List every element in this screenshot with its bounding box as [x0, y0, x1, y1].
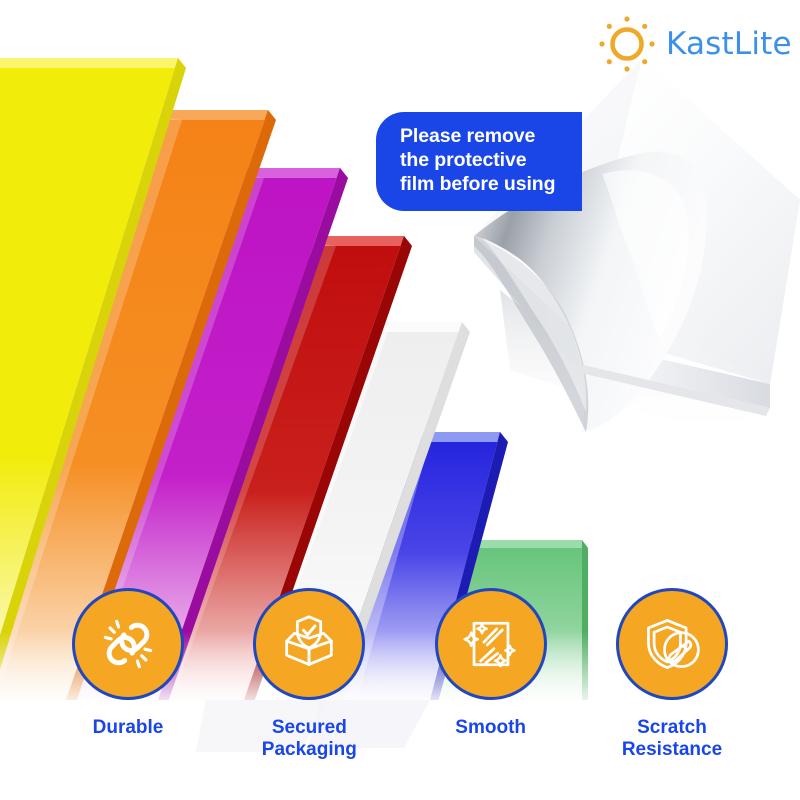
feature-secured-packaging[interactable]: Secured Packaging [221, 588, 397, 761]
product-marketing-image: KastLite Please remove the protective fi… [0, 0, 800, 800]
secure-box-icon [275, 610, 343, 678]
feature-circle-scratch-resistance [616, 588, 728, 700]
glass-sparkle-icon [458, 611, 524, 677]
feature-smooth[interactable]: Smooth [403, 588, 579, 761]
feature-label-durable: Durable [93, 717, 164, 739]
feature-circle-secured-packaging [253, 588, 365, 700]
brand-logo: KastLite [596, 14, 792, 74]
feature-label-scratch-resistance: Scratch Resistance [622, 717, 722, 761]
feature-badge-row: Durable Secured Packaging [40, 588, 760, 761]
brand-wordmark: KastLite [666, 26, 792, 62]
feature-label-secured-packaging: Secured Packaging [262, 717, 357, 761]
feature-circle-smooth [435, 588, 547, 700]
feature-label-smooth: Smooth [455, 717, 526, 739]
feature-circle-durable [72, 588, 184, 700]
remove-film-callout: Please remove the protective film before… [376, 112, 582, 211]
clear-acrylic-sheet-with-film [470, 40, 800, 440]
sun-icon [596, 13, 658, 75]
feature-durable[interactable]: Durable [40, 588, 216, 761]
chain-link-icon [95, 611, 161, 677]
feature-scratch-resistance[interactable]: Scratch Resistance [584, 588, 760, 761]
shield-blade-icon [639, 611, 705, 677]
